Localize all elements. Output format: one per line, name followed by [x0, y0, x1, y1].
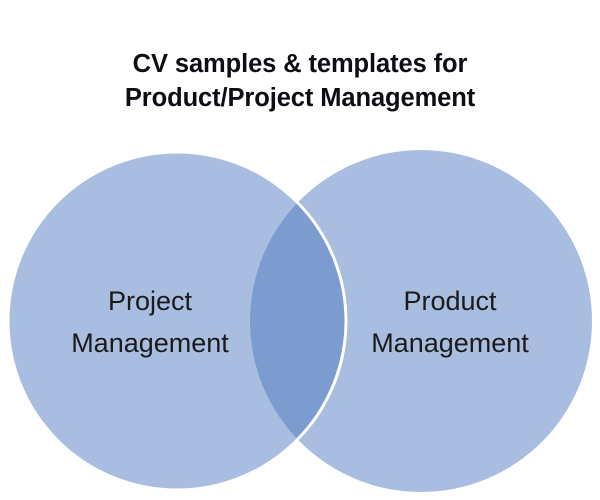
- venn-diagram: Project Management Product Management: [0, 0, 600, 500]
- venn-label-right-line-2: Management: [371, 328, 529, 358]
- venn-label-left-line-1: Project: [108, 286, 193, 316]
- venn-label-left-line-2: Management: [71, 328, 229, 358]
- venn-label-right-line-1: Product: [403, 286, 497, 316]
- slide-canvas: CV samples & templates for Product/Proje…: [0, 0, 600, 500]
